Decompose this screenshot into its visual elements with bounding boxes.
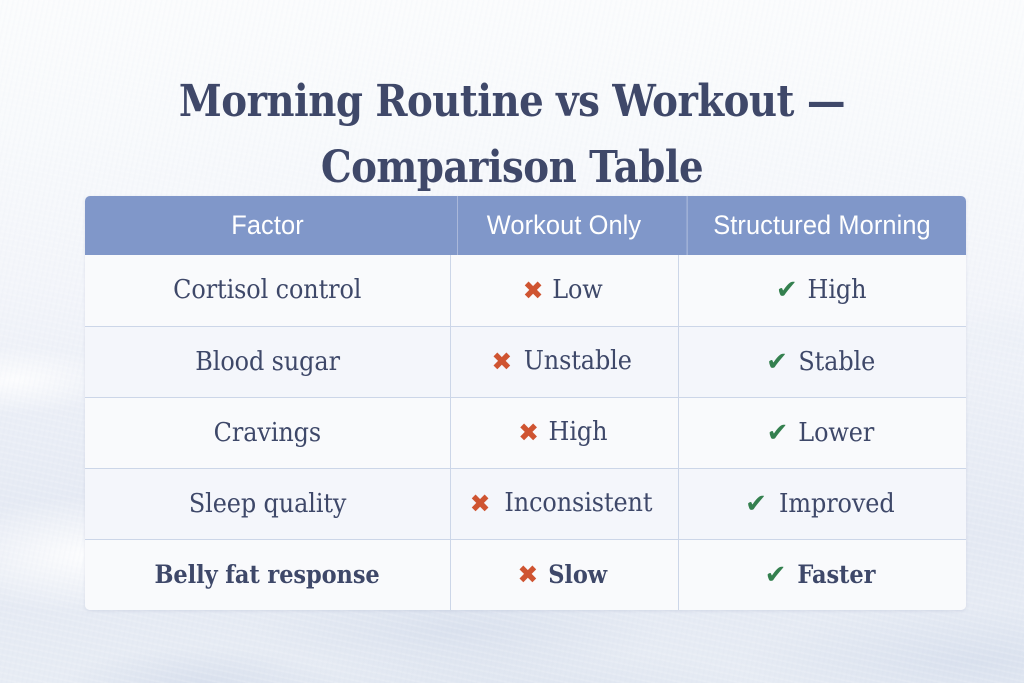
cell-structured-morning: ✔ Faster <box>678 539 966 610</box>
cell-factor: Sleep quality <box>85 468 450 539</box>
value-text: High <box>807 275 866 305</box>
cell-workout-only: ✖ Low <box>450 255 678 326</box>
column-header-factor: Factor <box>96 196 439 255</box>
column-header-workout-only: Workout Only <box>457 196 671 255</box>
cell-factor: Blood sugar <box>85 326 450 397</box>
check-icon: ✔ <box>767 420 789 446</box>
column-header-structured-morning: Structured Morning <box>687 196 958 255</box>
cell-workout-only: ✖ Inconsistent <box>450 468 678 539</box>
factor-label: Blood sugar <box>195 347 340 377</box>
positive-value: ✔ Stable <box>766 347 878 377</box>
negative-value: ✖ Unstable <box>491 346 636 376</box>
check-icon: ✔ <box>776 277 798 303</box>
cell-workout-only: ✖ Unstable <box>450 326 678 397</box>
factor-label: Sleep quality <box>189 489 346 519</box>
table-row: Blood sugar ✖ Unstable ✔ Stable <box>85 326 966 397</box>
factor-label: Belly fat response <box>155 560 380 589</box>
value-text: Slow <box>549 560 608 589</box>
positive-value: ✔ High <box>776 275 869 305</box>
table-row: Sleep quality ✖ Inconsistent ✔ Improved <box>85 468 966 539</box>
cell-structured-morning: ✔ Lower <box>678 397 966 468</box>
cross-icon: ✖ <box>491 349 512 374</box>
comparison-table: Factor Workout Only Structured Morning C… <box>85 196 966 610</box>
cell-workout-only: ✖ Slow <box>450 539 678 610</box>
cross-icon: ✖ <box>523 278 544 303</box>
cell-workout-only: ✖ High <box>450 397 678 468</box>
value-text: Faster <box>798 560 876 589</box>
slide-canvas: Morning Routine vs Workout — Comparison … <box>0 0 1024 683</box>
cross-icon: ✖ <box>518 420 539 445</box>
cell-factor: Cravings <box>85 397 450 468</box>
cell-structured-morning: ✔ High <box>678 255 966 326</box>
value-text: Low <box>553 275 603 305</box>
page-title: Morning Routine vs Workout — Comparison … <box>61 69 962 199</box>
factor-label: Cortisol control <box>173 275 361 305</box>
table-row: Cravings ✖ High ✔ Lower <box>85 397 966 468</box>
check-icon: ✔ <box>766 349 788 375</box>
cell-structured-morning: ✔ Improved <box>678 468 966 539</box>
comparison-table-container: Factor Workout Only Structured Morning C… <box>85 196 966 610</box>
check-icon: ✔ <box>765 562 787 588</box>
negative-value: ✖ Slow <box>517 560 610 589</box>
table-row: Belly fat response ✖ Slow ✔ Faster <box>85 539 966 610</box>
table-header: Factor Workout Only Structured Morning <box>85 196 966 255</box>
cross-icon: ✖ <box>517 562 538 587</box>
table-body: Cortisol control ✖ Low ✔ High <box>85 255 966 610</box>
negative-value: ✖ High <box>518 417 610 447</box>
positive-value: ✔ Faster <box>765 560 880 589</box>
value-text: Inconsistent <box>504 488 652 518</box>
positive-value: ✔ Lower <box>767 418 878 448</box>
negative-value: ✖ Inconsistent <box>470 488 659 518</box>
table-header-row: Factor Workout Only Structured Morning <box>85 196 966 255</box>
cell-structured-morning: ✔ Stable <box>678 326 966 397</box>
cell-factor: Belly fat response <box>85 539 450 610</box>
value-text: High <box>548 417 607 447</box>
value-text: Stable <box>798 347 875 377</box>
cell-factor: Cortisol control <box>85 255 450 326</box>
negative-value: ✖ Low <box>523 275 606 305</box>
value-text: Lower <box>799 418 875 448</box>
value-text: Improved <box>779 489 895 519</box>
positive-value: ✔ Improved <box>745 489 899 519</box>
table-row: Cortisol control ✖ Low ✔ High <box>85 255 966 326</box>
factor-label: Cravings <box>214 418 321 448</box>
cross-icon: ✖ <box>470 491 491 516</box>
check-icon: ✔ <box>745 491 767 517</box>
value-text: Unstable <box>524 346 632 376</box>
